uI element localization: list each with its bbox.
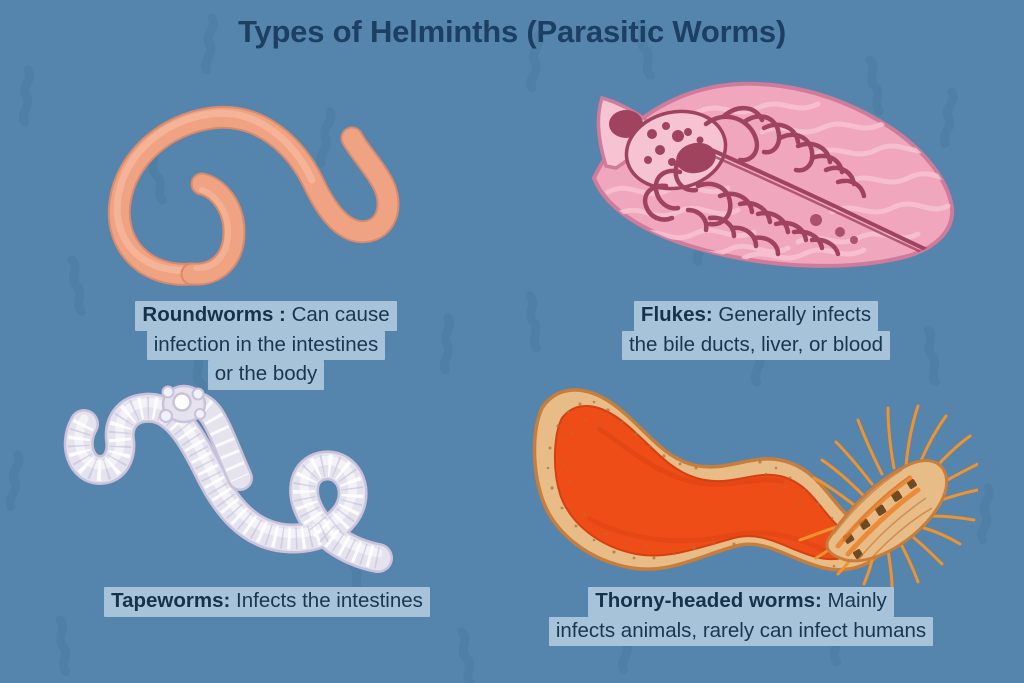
caption-roundworms: Roundworms : Can cause infection in the …	[96, 301, 436, 390]
caption-flukes: Flukes: Generally infects the bile ducts…	[596, 301, 916, 360]
caption-line: Thorny-headed worms: Mainly	[588, 587, 894, 617]
tapeworm-illustration	[62, 382, 407, 587]
thorny-headed-worm-illustration	[528, 368, 978, 588]
infographic-canvas: Types of Helminths (Parasitic Worms)	[0, 0, 1024, 683]
roundworm-body	[117, 113, 388, 274]
caption-text: Can cause	[286, 303, 390, 326]
caption-text: Infects the intestines	[230, 589, 423, 612]
tapeworm-scolex-head	[160, 386, 205, 422]
caption-line: infection in the intestines	[147, 331, 386, 361]
tapeworm-sucker	[174, 394, 191, 411]
roundworm-illustration	[100, 88, 420, 298]
caption-line: Roundworms : Can cause	[135, 301, 396, 331]
caption-line: Tapeworms: Infects the intestines	[104, 587, 430, 617]
caption-text: infects animals, rarely can infect human…	[556, 619, 926, 642]
caption-bold-label: Roundworms :	[142, 303, 286, 326]
caption-bold-label: Thorny-headed worms:	[595, 589, 822, 612]
caption-text: the bile ducts, liver, or blood	[629, 333, 883, 356]
caption-line: Flukes: Generally infects	[634, 301, 878, 331]
caption-text: or the body	[215, 362, 318, 385]
page-title: Types of Helminths (Parasitic Worms)	[0, 14, 1024, 50]
caption-tapeworms: Tapeworms: Infects the intestines	[72, 587, 462, 617]
caption-line: or the body	[208, 360, 325, 390]
caption-line: the bile ducts, liver, or blood	[622, 331, 890, 361]
caption-line: infects animals, rarely can infect human…	[549, 617, 933, 647]
caption-bold-label: Tapeworms:	[111, 589, 230, 612]
caption-thorny-headed-worms: Thorny-headed worms: Mainly infects anim…	[516, 587, 966, 646]
caption-text: infection in the intestines	[154, 333, 379, 356]
caption-text: Generally infects	[713, 303, 871, 326]
caption-text: Mainly	[822, 589, 887, 612]
caption-bold-label: Flukes:	[641, 303, 713, 326]
fluke-illustration	[548, 62, 968, 302]
